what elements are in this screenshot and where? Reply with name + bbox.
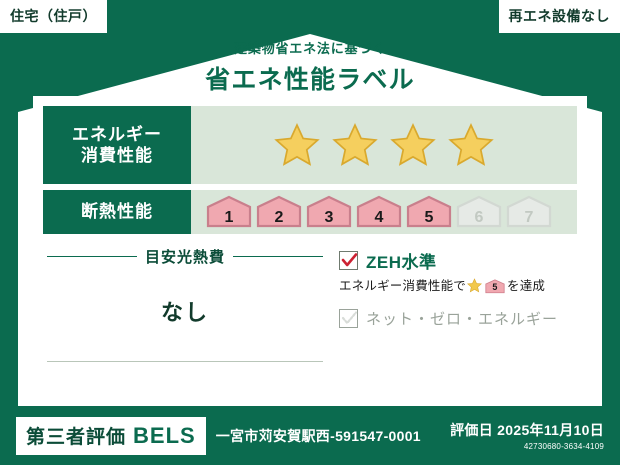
energy-cost-title: 目安光熱費 xyxy=(145,246,225,267)
zeh-description: エネルギー消費性能で 5 を達成 xyxy=(339,277,575,295)
insulation-grade-badge: 7 xyxy=(505,195,553,229)
nze-label: ネット・ゼロ・エネルギー xyxy=(366,308,558,329)
energy-label-line1: エネルギー xyxy=(72,124,162,145)
check-icon-empty xyxy=(341,310,358,327)
insulation-performance-label: 断熱性能 xyxy=(43,190,191,234)
insulation-grade-badge: 4 xyxy=(355,195,403,229)
insulation-grade-badge: 2 xyxy=(255,195,303,229)
grade-badge-inline-value: 5 xyxy=(485,281,505,294)
footer-meta: 評価日 2025年11月10日 42730680-3634-4109 xyxy=(450,420,604,451)
zeh-checkbox[interactable] xyxy=(339,251,358,270)
zeh-desc-part1: エネルギー消費性能で xyxy=(339,279,466,293)
energy-performance-row: エネルギー 消費性能 xyxy=(33,106,587,184)
zeh-check-line: ZEH水準 xyxy=(339,248,575,273)
energy-performance-label: エネルギー 消費性能 xyxy=(43,106,191,184)
renewable-equipment-tag: 再エネ設備なし xyxy=(499,0,620,33)
insulation-grade-scale: 1234567 xyxy=(191,190,577,234)
insulation-grade-value: 6 xyxy=(455,209,503,227)
insulation-grade-value: 4 xyxy=(355,209,403,227)
energy-cost-value: なし xyxy=(47,295,323,327)
insulation-grade-badge: 3 xyxy=(305,195,353,229)
star-rating xyxy=(191,106,577,184)
dwelling-type-tag: 住宅（住戸） xyxy=(0,0,107,33)
lower-section: 目安光熱費 なし ZEH水準 エネルギー消費性能で xyxy=(33,242,587,394)
insulation-performance-row: 断熱性能 1234567 xyxy=(33,190,587,234)
insulation-grade-badge: 6 xyxy=(455,195,503,229)
zeh-section: ZEH水準 エネルギー消費性能で 5 を達成 ネット・ゼ xyxy=(333,242,587,394)
grade-badge-inline: 5 xyxy=(485,279,505,294)
insulation-grade-value: 2 xyxy=(255,209,303,227)
energy-cost-underline xyxy=(47,361,323,362)
insulation-grade-value: 5 xyxy=(405,209,453,227)
zeh-desc-part3: を達成 xyxy=(507,279,545,293)
star-icon xyxy=(273,122,321,168)
insulation-grade-value: 1 xyxy=(205,209,253,227)
page-title: 省エネ性能ラベル xyxy=(0,60,620,96)
insulation-grade-badge: 5 xyxy=(405,195,453,229)
check-icon xyxy=(341,252,358,269)
star-icon xyxy=(447,122,495,168)
energy-label-line2: 消費性能 xyxy=(81,145,153,166)
bels-label-jp: 第三者評価 xyxy=(26,422,126,449)
evaluation-id: 42730680-3634-4109 xyxy=(450,442,604,451)
star-icon xyxy=(389,122,437,168)
insulation-grade-value: 7 xyxy=(505,209,553,227)
zeh-title: ZEH水準 xyxy=(366,248,437,273)
insulation-grade-value: 3 xyxy=(305,209,353,227)
label-title-block: 建築物省エネ法に基づく 省エネ性能ラベル xyxy=(0,38,620,96)
energy-cost-section: 目安光熱費 なし xyxy=(33,242,333,394)
property-address: 一宮市苅安賀駅西-591547-0001 xyxy=(216,426,421,446)
nze-checkbox[interactable] xyxy=(339,309,358,328)
label-body-panel: エネルギー 消費性能 断熱性能 1234567 目安光熱費 なし xyxy=(33,96,587,392)
energy-cost-header: 目安光熱費 xyxy=(47,246,323,267)
star-icon xyxy=(331,122,379,168)
evaluation-date: 評価日 2025年11月10日 xyxy=(450,420,604,440)
bels-logo: 第三者評価 BELS xyxy=(16,417,206,455)
footer-bar: 第三者評価 BELS 一宮市苅安賀駅西-591547-0001 評価日 2025… xyxy=(0,406,620,465)
star-icon-inline xyxy=(467,278,482,293)
bels-label-en: BELS xyxy=(133,423,196,449)
title-subtitle: 建築物省エネ法に基づく xyxy=(0,38,620,57)
rule-right xyxy=(233,256,323,257)
nze-check-line: ネット・ゼロ・エネルギー xyxy=(339,308,575,329)
rule-left xyxy=(47,256,137,257)
insulation-grade-badge: 1 xyxy=(205,195,253,229)
